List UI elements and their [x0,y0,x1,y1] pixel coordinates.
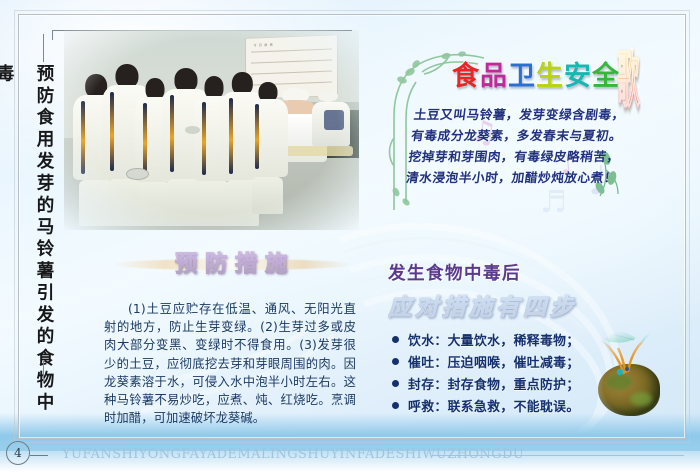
cook2-bag [324,110,345,130]
music-note-icon: ♬ [540,185,567,220]
bowl [126,168,149,180]
bullet-dot-icon [392,336,399,343]
bullet-dot-icon [392,380,399,387]
response-step-label: 呼救：联系急救，不能耽误。 [408,396,580,415]
photo-corner-rule [52,30,53,40]
poem-line-2: 挖掉芽和芽围肉，有毒绿皮略稍苦， [407,146,630,167]
poem-line-1: 有毒成分龙葵素，多发春末与夏初。 [410,125,633,146]
student-figure [247,82,288,214]
headline-char-3: 生 [536,54,564,93]
vertical-title-rule-bottom [43,361,44,383]
response-step-label: 催吐：压迫咽喉，催吐减毒； [408,352,580,371]
poem-line-3: 清水浸泡半小时，加醋炒炖放心煮！ [405,167,628,188]
headline-char-1: 品 [480,54,508,93]
cook2-hat [318,90,339,102]
bullet-dot-icon [392,402,399,409]
poem-line-0: 土豆又叫马铃薯，发芽变绿含剧毒， [413,104,636,125]
potato-sprout-icon [580,322,688,432]
vertical-title-rule-top [43,34,44,62]
headline-char-0: 食 [452,54,480,93]
canteen-photo: 今 日 食 谱 [64,30,359,230]
bullet-dot-icon [392,358,399,365]
prevention-banner: 预防措施 [112,246,352,280]
page-title: 预防食用发芽的马铃薯引发的食物中毒 [24,64,64,419]
page-number-badge: 4 [6,441,30,465]
headline-char-5: 全 [592,54,620,93]
headline-char-4: 安 [564,54,592,93]
headline-char-2: 卫 [508,54,536,93]
sprouted-potato-photo [580,322,688,432]
page-number-rule [30,455,48,456]
footer-rule [432,455,684,456]
response-subheading: 应对措施有四步 [388,288,577,322]
prevention-title: 预防措施 [130,246,340,278]
prevention-body-text: (1)土豆应贮存在低温、通风、无阳光直射的地方，防止生芽变绿。(2)生芽过多或皮… [104,300,356,427]
safety-song-poem: 土豆又叫马铃薯，发芽变绿含剧毒，有毒成分龙葵素，多发春末与夏初。挖掉芽和芽围肉，… [405,104,635,188]
headline-song-char: 歌 [617,50,639,112]
bowl [185,126,200,134]
vertical-title-block: 预防食用发芽的马铃薯引发的食物中毒 [24,34,64,419]
response-heading: 发生食物中毒后 [388,260,521,285]
response-step-label: 饮水：大量饮水，稀释毒物； [408,330,580,349]
poster-canvas: 预防食用发芽的马铃薯引发的食物中毒 4 YUFANSHIYONGFAYADEMA… [0,0,700,473]
response-step-label: 封存：封存食物，重点防护； [408,374,580,393]
menu-sign-title: 今 日 食 谱 [253,40,330,48]
headline-food-hygiene-safety: 食品卫生安全 [452,54,620,93]
